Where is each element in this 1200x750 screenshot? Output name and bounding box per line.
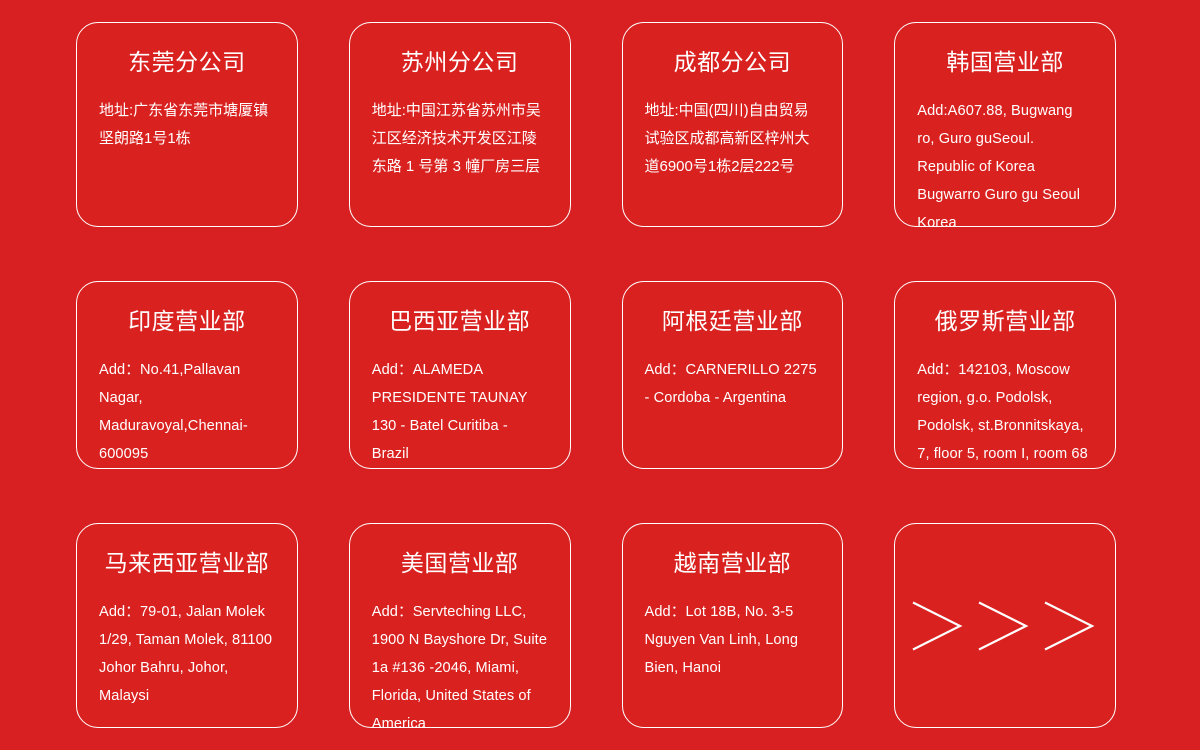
branch-office-grid: 东莞分公司 地址:广东省东莞市塘厦镇坚朗路1号1栋 苏州分公司 地址:中国江苏省… <box>0 0 1200 750</box>
branch-title: 巴西亚营业部 <box>372 308 548 336</box>
branch-card-chengdu[interactable]: 成都分公司 地址:中国(四川)自由贸易试验区成都高新区梓州大道6900号1栋2层… <box>622 22 844 227</box>
branch-card-suzhou[interactable]: 苏州分公司 地址:中国江苏省苏州市吴江区经济技术开发区江陵东路 1 号第 3 幢… <box>349 22 571 227</box>
branch-address: Add：ALAMEDA PRESIDENTE TAUNAY 130 - Bate… <box>372 356 548 468</box>
branch-card-russia[interactable]: 俄罗斯营业部 Add：142103, Moscow region, g.o. P… <box>894 281 1116 469</box>
branch-address: Add：Servteching LLC, 1900 N Bayshore Dr,… <box>372 598 548 728</box>
branch-card-india[interactable]: 印度营业部 Add：No.41,Pallavan Nagar, Maduravo… <box>76 281 298 469</box>
branch-address: 地址:中国江苏省苏州市吴江区经济技术开发区江陵东路 1 号第 3 幢厂房三层 <box>372 97 548 181</box>
branch-card-argentina[interactable]: 阿根廷营业部 Add：CARNERILLO 2275 - Cordoba - A… <box>622 281 844 469</box>
branch-title: 苏州分公司 <box>372 49 548 77</box>
branch-address: Add：CARNERILLO 2275 - Cordoba - Argentin… <box>645 356 821 412</box>
branch-title: 马来西亚营业部 <box>99 550 275 578</box>
branch-card-vietnam[interactable]: 越南营业部 Add：Lot 18B, No. 3-5 Nguyen Van Li… <box>622 523 844 728</box>
branch-title: 韩国营业部 <box>917 49 1093 77</box>
branch-title: 东莞分公司 <box>99 49 275 77</box>
branch-title: 俄罗斯营业部 <box>917 308 1093 336</box>
triple-chevron-right-icon[interactable] <box>908 597 1102 655</box>
next-page-card[interactable] <box>894 523 1116 728</box>
branch-address: Add:A607.88, Bugwang ro, Guro guSeoul. R… <box>917 97 1093 227</box>
branch-address: Add：Lot 18B, No. 3-5 Nguyen Van Linh, Lo… <box>645 598 821 682</box>
branch-title: 阿根廷营业部 <box>645 308 821 336</box>
branch-card-usa[interactable]: 美国营业部 Add：Servteching LLC, 1900 N Baysho… <box>349 523 571 728</box>
branch-address: 地址:中国(四川)自由贸易试验区成都高新区梓州大道6900号1栋2层222号 <box>645 97 821 181</box>
branch-card-korea[interactable]: 韩国营业部 Add:A607.88, Bugwang ro, Guro guSe… <box>894 22 1116 227</box>
branch-address: Add：142103, Moscow region, g.o. Podolsk,… <box>917 356 1093 468</box>
branch-address: Add：79-01, Jalan Molek 1/29, Taman Molek… <box>99 598 275 710</box>
branch-address: Add：No.41,Pallavan Nagar, Maduravoyal,Ch… <box>99 356 275 468</box>
branch-title: 成都分公司 <box>645 49 821 77</box>
branch-address: 地址:广东省东莞市塘厦镇坚朗路1号1栋 <box>99 97 275 153</box>
branch-card-brazil[interactable]: 巴西亚营业部 Add：ALAMEDA PRESIDENTE TAUNAY 130… <box>349 281 571 469</box>
branch-title: 越南营业部 <box>645 550 821 578</box>
branch-title: 印度营业部 <box>99 308 275 336</box>
branch-card-malaysia[interactable]: 马来西亚营业部 Add：79-01, Jalan Molek 1/29, Tam… <box>76 523 298 728</box>
branch-card-dongguan[interactable]: 东莞分公司 地址:广东省东莞市塘厦镇坚朗路1号1栋 <box>76 22 298 227</box>
branch-title: 美国营业部 <box>372 550 548 578</box>
